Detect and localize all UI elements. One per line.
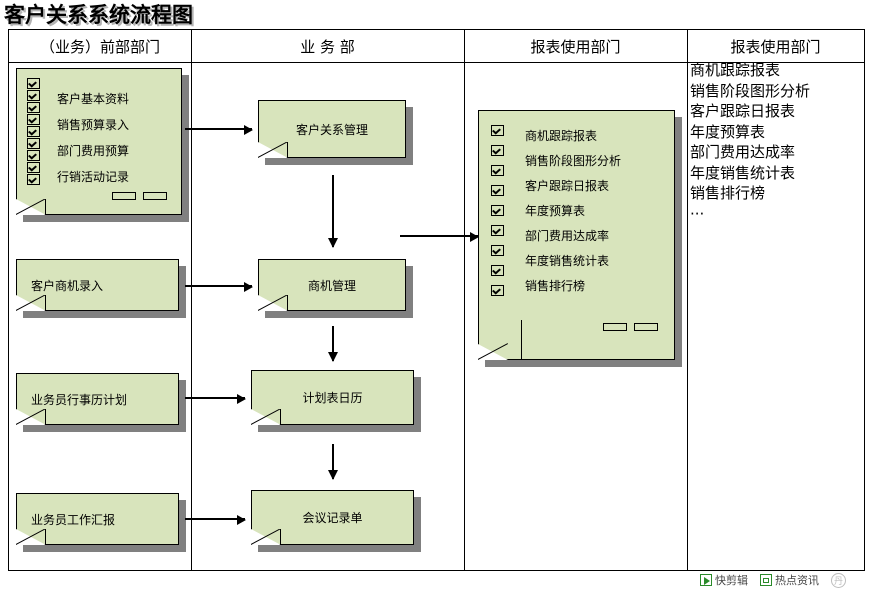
folded-corner-icon (16, 409, 46, 425)
process-box-label: 客户关系管理 (259, 121, 405, 138)
checkbox-icon[interactable] (491, 265, 504, 276)
column-header-4: 报表使用部门 (687, 30, 864, 62)
list-item: 年度预算表 (525, 205, 621, 217)
checkbox-column (27, 78, 40, 186)
checkbox-icon[interactable] (491, 245, 504, 256)
list-item: 部门费用预算 (57, 145, 129, 157)
checkbox-icon[interactable] (491, 125, 504, 136)
list-item: 销售阶段图形分析 (525, 155, 621, 167)
checkbox-icon[interactable] (27, 78, 40, 89)
input-checklist-document[interactable]: 客户基本资料 销售预算录入 部门费用预算 行销活动记录 (16, 68, 182, 215)
checkbox-icon[interactable] (27, 162, 40, 173)
list-item: 销售排行榜 (525, 280, 621, 292)
folded-corner-icon (16, 295, 46, 311)
column-divider-1 (191, 30, 192, 570)
checkbox-column (491, 125, 504, 297)
report-text-list: 商机跟踪报表 销售阶段图形分析 客户跟踪日报表 年度预算表 部门费用达成率 年度… (690, 60, 810, 224)
page-title: 客户关系系统流程图 (4, 0, 193, 29)
list-item: 销售排行榜 (690, 183, 810, 204)
folded-corner-icon (258, 295, 288, 311)
list-item: 销售阶段图形分析 (690, 81, 810, 102)
video-clip-icon (700, 574, 712, 586)
doc-button[interactable] (143, 192, 167, 200)
checkbox-icon[interactable] (27, 138, 40, 149)
process-box-opportunity-management[interactable]: 商机管理 (258, 259, 406, 311)
list-item: 部门费用达成率 (525, 230, 621, 242)
arrow-calendar-to-meeting (332, 444, 334, 479)
process-box-sales-work-report[interactable]: 业务员工作汇报 (16, 493, 179, 545)
list-item: 客户跟踪日报表 (690, 101, 810, 122)
folded-corner-icon (16, 199, 46, 215)
checkbox-icon[interactable] (27, 114, 40, 125)
column-header-3: 报表使用部门 (464, 30, 687, 62)
input-item-list: 客户基本资料 销售预算录入 部门费用预算 行销活动记录 (57, 93, 129, 183)
doc-button[interactable] (603, 323, 627, 331)
list-item: 年度预算表 (690, 122, 810, 143)
report-item-list: 商机跟踪报表 销售阶段图形分析 客户跟踪日报表 年度预算表 部门费用达成率 年度… (525, 130, 621, 292)
checkbox-icon[interactable] (27, 102, 40, 113)
flowchart-page: 客户关系系统流程图 （业务）前部部门 业 务 部 报表使用部门 报表使用部门 客… (0, 0, 891, 590)
tray-item-news[interactable]: 热点资讯 (760, 572, 819, 588)
list-item: 销售预算录入 (57, 119, 129, 131)
watermark-round-icon: 丹 (831, 573, 846, 588)
folded-corner-icon (478, 320, 522, 360)
arrow-opportunity-to-calendar (332, 326, 334, 361)
arrow-center-to-reports (400, 235, 478, 237)
doc-button[interactable] (634, 323, 658, 331)
list-item: 部门费用达成率 (690, 142, 810, 163)
list-item: 商机跟踪报表 (525, 130, 621, 142)
process-box-label: 客户商机录入 (17, 277, 178, 294)
checkbox-icon[interactable] (27, 126, 40, 137)
process-box-customer-opportunity-entry[interactable]: 客户商机录入 (16, 259, 179, 311)
process-box-label: 业务员工作汇报 (17, 511, 178, 528)
process-box-schedule-calendar[interactable]: 计划表日历 (251, 370, 414, 425)
checkbox-icon[interactable] (27, 150, 40, 161)
list-item: 年度销售统计表 (525, 255, 621, 267)
folded-corner-icon (251, 529, 281, 545)
checkbox-icon[interactable] (491, 145, 504, 156)
column-divider-3 (687, 30, 688, 570)
tray-item-clip-label: 快剪辑 (715, 572, 748, 588)
column-header-1: （业务）前部部门 (9, 30, 191, 62)
process-box-label: 计划表日历 (252, 389, 413, 406)
process-box-label: 会议记录单 (252, 509, 413, 526)
news-icon (760, 574, 772, 586)
arrow-work-report-to-meeting (185, 518, 245, 520)
checkbox-icon[interactable] (491, 205, 504, 216)
tray-item-news-label: 热点资讯 (775, 572, 819, 588)
folded-corner-icon (258, 142, 288, 158)
folded-corner-icon (251, 409, 281, 425)
tray-item-clip[interactable]: 快剪辑 (700, 572, 748, 588)
checkbox-icon[interactable] (27, 174, 40, 185)
list-item: 客户基本资料 (57, 93, 129, 105)
process-box-sales-calendar-plan[interactable]: 业务员行事历计划 (16, 373, 179, 425)
process-box-label: 商机管理 (259, 277, 405, 294)
arrow-crm-to-opportunity (332, 175, 334, 247)
checkbox-icon[interactable] (27, 90, 40, 101)
column-divider-2 (464, 30, 465, 570)
report-checklist-document[interactable]: 商机跟踪报表 销售阶段图形分析 客户跟踪日报表 年度预算表 部门费用达成率 年度… (478, 110, 675, 360)
doc-button-group (603, 323, 658, 331)
column-header-2: 业 务 部 (191, 30, 464, 62)
checkbox-icon[interactable] (491, 285, 504, 296)
arrow-input-to-crm (185, 128, 252, 130)
list-item: 年度销售统计表 (690, 163, 810, 184)
checkbox-icon[interactable] (491, 225, 504, 236)
arrow-opportunity-entry-to-management (185, 285, 252, 287)
process-box-crm[interactable]: 客户关系管理 (258, 100, 406, 158)
arrow-calendar-plan-to-schedule (185, 397, 245, 399)
process-box-meeting-record[interactable]: 会议记录单 (251, 490, 414, 545)
list-item: ··· (690, 204, 810, 225)
doc-button[interactable] (112, 192, 136, 200)
doc-button-group (112, 192, 167, 200)
list-item: 行销活动记录 (57, 171, 129, 183)
list-item: 商机跟踪报表 (690, 60, 810, 81)
checkbox-icon[interactable] (491, 165, 504, 176)
process-box-label: 业务员行事历计划 (17, 391, 178, 408)
list-item: 客户跟踪日报表 (525, 180, 621, 192)
bottom-tray: 快剪辑 热点资讯 丹 (700, 572, 846, 588)
checkbox-icon[interactable] (491, 185, 504, 196)
folded-corner-icon (16, 529, 46, 545)
